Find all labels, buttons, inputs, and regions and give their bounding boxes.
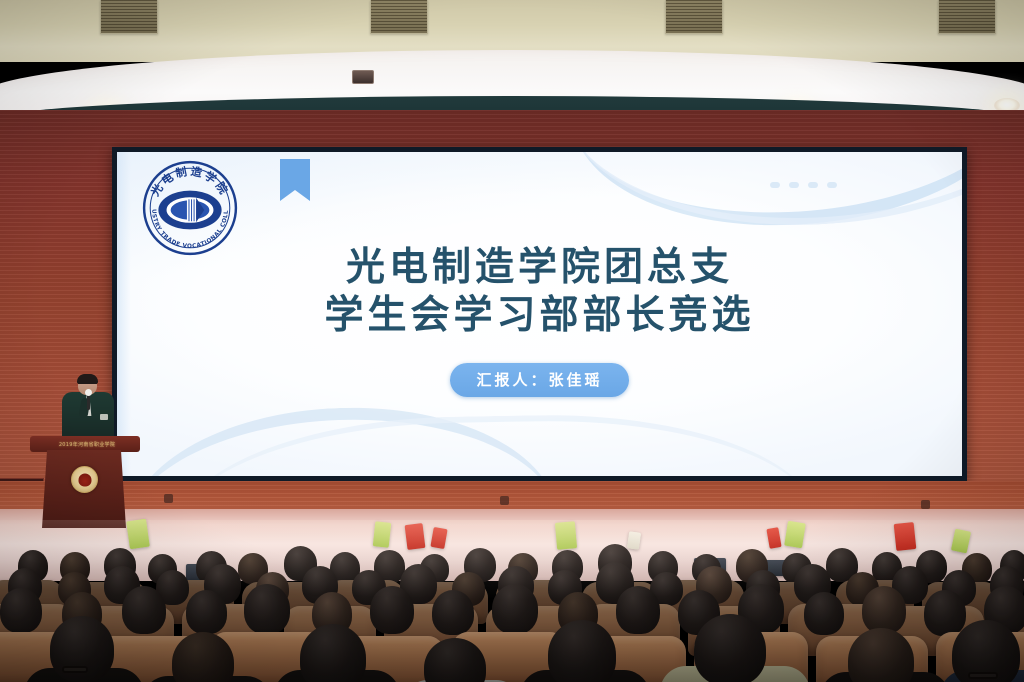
decorative-dot: [808, 182, 818, 188]
decorative-dot: [770, 182, 780, 188]
stage-object: [164, 494, 173, 503]
audience-member: [616, 586, 660, 634]
audience-member: [186, 590, 227, 634]
podium-emblem: [71, 466, 98, 493]
ceiling-device: [352, 70, 374, 84]
bookmark-icon: [280, 159, 310, 201]
presenter-badge-wrap: 汇报人：张佳瑶: [117, 363, 962, 397]
audience-member: [432, 590, 474, 635]
audience-member: [244, 584, 290, 634]
held-sign: [373, 521, 392, 548]
decorative-dot: [827, 182, 837, 188]
red-flag: [766, 527, 781, 549]
ceiling-vent: [665, 0, 723, 34]
presenter-badge: 汇报人：张佳瑶: [450, 363, 628, 397]
audience-member: [924, 590, 966, 636]
audience-member: [0, 588, 42, 633]
slide-title: 光电制造学院团总支 学生会学习部部长竞选: [117, 244, 962, 340]
ceiling-vent: [100, 0, 158, 34]
held-sign: [555, 521, 577, 550]
stage-object: [921, 500, 930, 509]
red-flag: [894, 522, 917, 551]
held-sign: [784, 521, 806, 549]
podium-front-text: 2019年河南省职业学院: [46, 438, 128, 450]
audience-member: [370, 586, 414, 634]
speaker-hair: [77, 374, 98, 384]
held-sign: [951, 529, 971, 554]
audience-member: [548, 620, 616, 682]
auditorium-photo: 光电制造学院 INDUSTRY TRADE VOCATIONAL COLLEGE: [0, 0, 1024, 682]
speaker-badge: [100, 414, 108, 420]
held-sign: [627, 531, 641, 550]
slide-title-line-1: 光电制造学院团总支: [117, 244, 962, 292]
audience-member: [492, 584, 538, 634]
audience-member: [862, 586, 906, 634]
red-flag: [430, 527, 447, 549]
eyeglasses-icon: [62, 666, 88, 673]
microphone-icon: [87, 394, 90, 410]
audience-member: [122, 586, 166, 634]
podium-with-speaker: 2019年河南省职业学院: [24, 370, 146, 530]
audience-member: [694, 614, 766, 682]
slide-title-line-2: 学生会学习部部长竞选: [117, 292, 962, 340]
decorative-dot: [789, 182, 799, 188]
ceiling-vent: [938, 0, 996, 34]
held-sign: [126, 519, 150, 550]
red-flag: [405, 523, 426, 550]
audience: [0, 520, 1024, 682]
stage-object: [500, 496, 509, 505]
ceiling-vent: [370, 0, 428, 34]
decorative-dots: [770, 182, 837, 188]
audience-member: [804, 592, 844, 635]
eyeglasses-icon: [968, 672, 998, 679]
projection-screen: 光电制造学院 INDUSTRY TRADE VOCATIONAL COLLEGE: [112, 147, 967, 481]
presentation-slide: 光电制造学院 INDUSTRY TRADE VOCATIONAL COLLEGE: [117, 152, 962, 476]
decorative-swoosh-top-right-thin: [554, 152, 962, 242]
